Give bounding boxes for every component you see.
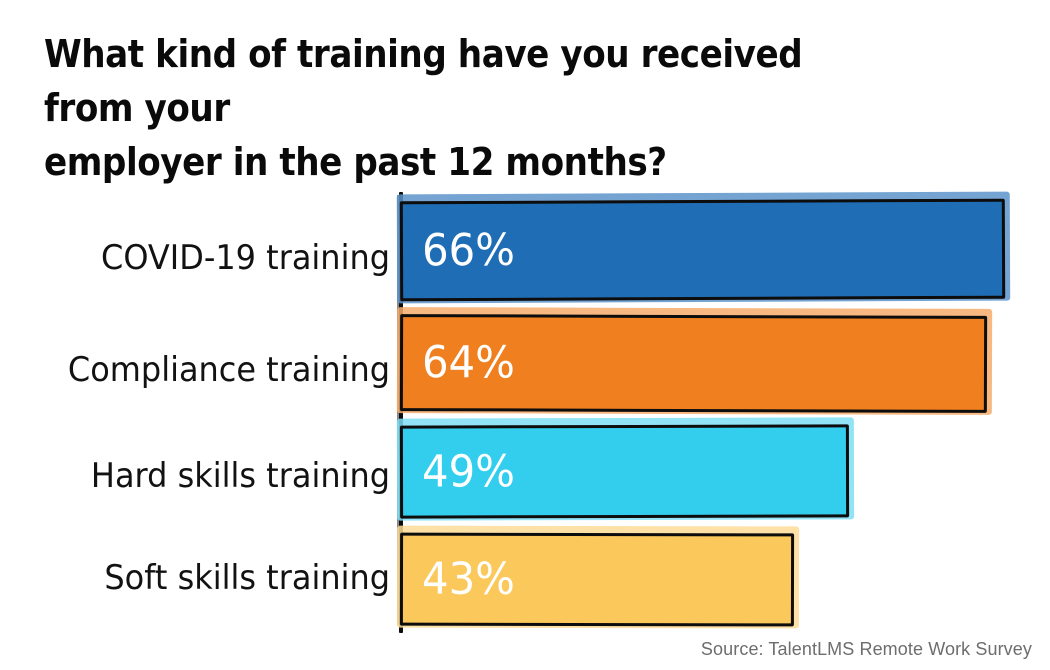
bar-chart-plot-area: COVID-19 training 66% Compliance trainin… (0, 0, 1050, 670)
category-label-covid-19-training: COVID-19 training (33, 238, 390, 278)
bar-compliance-training[interactable]: 64% (400, 314, 987, 413)
bar-value-label: 64% (422, 341, 515, 385)
bar-value-label: 66% (422, 229, 515, 273)
bar-covid-19-training[interactable]: 66% (400, 199, 1005, 302)
bar-hard-skills-training[interactable]: 49% (400, 424, 849, 518)
bar-soft-skills-training[interactable]: 43% (400, 533, 794, 627)
bar-value-label: 49% (422, 450, 515, 494)
category-label-compliance-training: Compliance training (33, 350, 390, 390)
category-label-soft-skills-training: Soft skills training (33, 558, 390, 598)
bar-value-label: 43% (422, 557, 515, 601)
source-attribution: Source: TalentLMS Remote Work Survey (701, 639, 1032, 660)
category-label-hard-skills-training: Hard skills training (33, 456, 390, 496)
